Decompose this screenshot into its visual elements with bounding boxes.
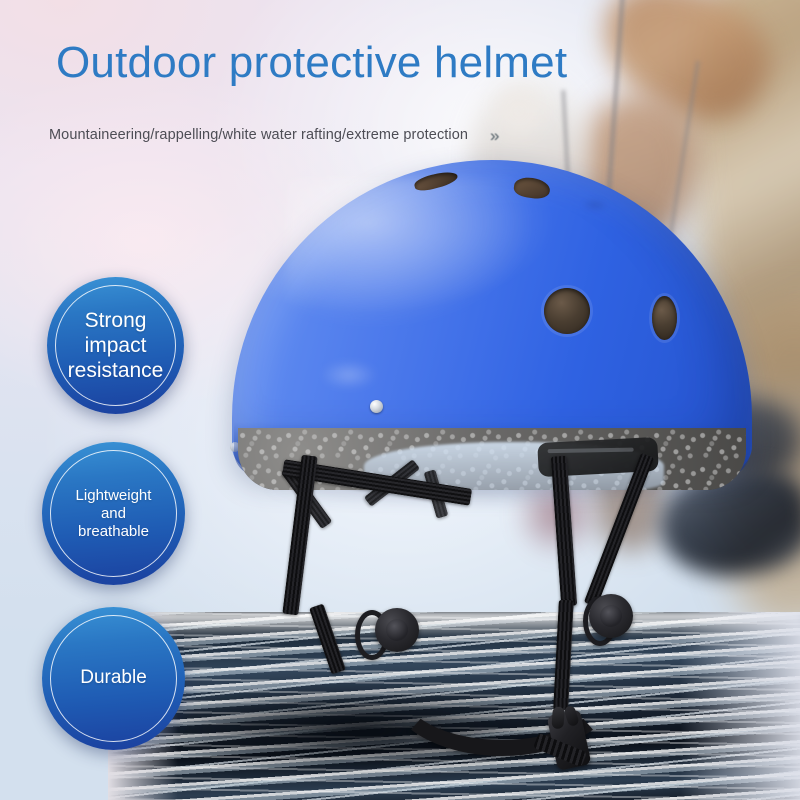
feature-badge-lightweight[interactable]: Lightweightandbreathable (42, 442, 185, 585)
feature-badge-label: Lightweightandbreathable (66, 487, 162, 541)
helmet-product-image (232, 160, 752, 490)
helmet-rivet (370, 400, 383, 413)
feature-badge-impact-resistance[interactable]: Strongimpactresistance (47, 277, 184, 414)
rock-ledge-right-fade (680, 612, 800, 800)
feature-badge-label: Strongimpactresistance (58, 308, 174, 384)
page-subtitle: Mountaineering/rappelling/white water ra… (49, 127, 468, 143)
feature-badge-label: Durable (70, 667, 157, 690)
helmet-gloss-highlight (286, 178, 536, 328)
helmet-side-vent (652, 296, 677, 340)
strap-adjuster-right (589, 594, 633, 638)
chevron-right-icon: » (490, 128, 520, 144)
helmet-shell-dimple (582, 198, 608, 212)
helmet-gloss-highlight-small (320, 360, 378, 390)
feature-badge-durable[interactable]: Durable (42, 607, 185, 750)
page-title: Outdoor protective helmet (56, 38, 567, 88)
strap-adjuster-left (375, 608, 419, 652)
helmet-side-vent (544, 288, 590, 334)
product-banner: Outdoor protective helmet Mountaineering… (0, 0, 800, 800)
